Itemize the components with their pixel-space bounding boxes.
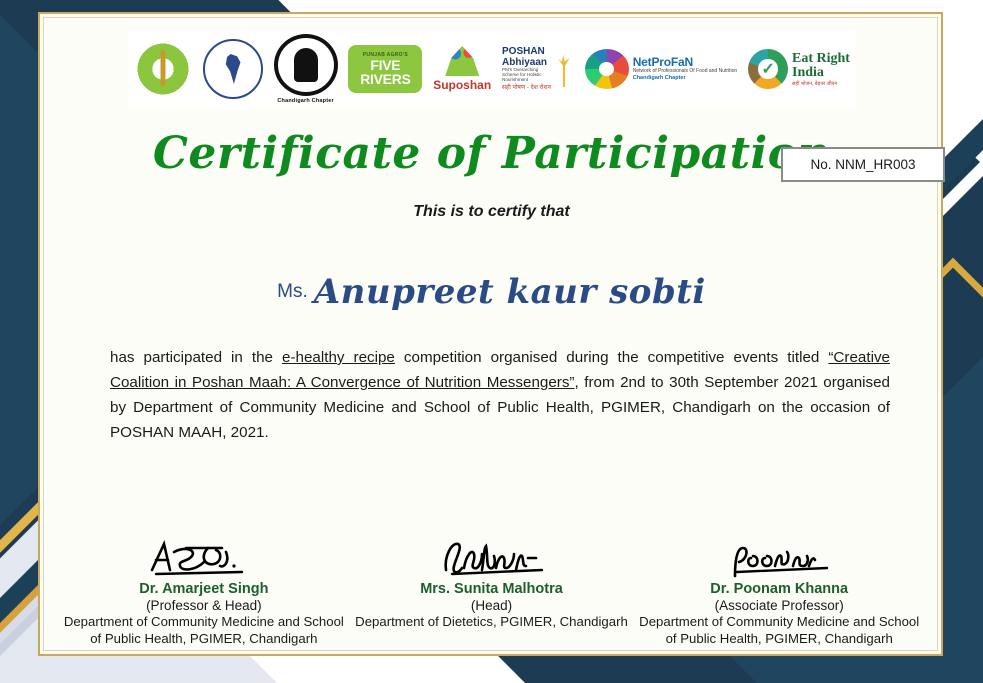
signature-role: (Professor & Head) bbox=[60, 598, 348, 613]
netprofan-logo: NetProFaN Network of Professionals Of Fo… bbox=[585, 34, 738, 104]
eat-right-line2-label: India bbox=[792, 66, 850, 80]
certificate-content: Chandigarh Chapter PUNJAB AGRO'S FIVE RI… bbox=[0, 0, 983, 683]
poshan-abhiyaan-logo: POSHAN Abhiyaan PM's Overarching Scheme … bbox=[502, 34, 574, 104]
certificate-document: Chandigarh Chapter PUNJAB AGRO'S FIVE RI… bbox=[0, 0, 983, 683]
netprofan-line2-label: Network of Professionals Of Food and Nut… bbox=[633, 69, 738, 74]
recipient-block: Ms.Anupreet kaur sobti bbox=[0, 272, 983, 312]
sunita-malhotra-signature bbox=[348, 536, 636, 580]
poshan-hindi-label: सही पोषण - देश रोशन bbox=[502, 85, 551, 91]
netprofan-line3-label: Chandigarh Chapter bbox=[633, 76, 738, 82]
partner-logo-bar: Chandigarh Chapter PUNJAB AGRO'S FIVE RI… bbox=[128, 30, 856, 108]
netprofan-mark: NetProFaN Network of Professionals Of Fo… bbox=[585, 49, 738, 89]
signature-block-sunita-malhotra: Mrs. Sunita Malhotra (Head) Department o… bbox=[348, 536, 636, 647]
suposhan-logo: Suposhan bbox=[433, 34, 491, 104]
suposhan-mark: Suposhan bbox=[433, 46, 491, 92]
pgimer-emblem-logo bbox=[134, 34, 192, 104]
netprofan-people-wheel-icon bbox=[585, 49, 629, 89]
signature-role: (Head) bbox=[348, 598, 636, 613]
netprofan-text-group: NetProFaN Network of Professionals Of Fo… bbox=[633, 56, 738, 82]
certificate-number-box: No. NNM_HR003 bbox=[781, 147, 945, 182]
competition-name: e-healthy recipe bbox=[282, 349, 395, 366]
five-rivers-punjab-agro-logo: PUNJAB AGRO'S FIVE RIVERS bbox=[348, 34, 422, 104]
signature-name: Mrs. Sunita Malhotra bbox=[348, 581, 636, 597]
nutrition-society-caption: Chandigarh Chapter bbox=[277, 98, 333, 104]
poshan-abhiyaan-mark: POSHAN Abhiyaan PM's Overarching Scheme … bbox=[502, 47, 574, 91]
signature-role: (Associate Professor) bbox=[635, 598, 923, 613]
eat-right-plate-icon bbox=[748, 49, 788, 89]
nutrition-society-of-india-logo: Chandigarh Chapter bbox=[274, 34, 338, 104]
eat-right-mark: Eat Right India सही भोजन, बेहतर जीवन bbox=[748, 49, 850, 89]
signature-name: Dr. Poonam Khanna bbox=[635, 581, 923, 597]
signature-org: Department of Community Medicine and Sch… bbox=[60, 614, 348, 647]
five-rivers-line2-label: RIVERS bbox=[360, 72, 410, 86]
netprofan-line1-label: NetProFaN bbox=[633, 56, 738, 69]
signature-name: Dr. Amarjeet Singh bbox=[60, 581, 348, 597]
eat-right-text-group: Eat Right India सही भोजन, बेहतर जीवन bbox=[792, 52, 850, 87]
suposhan-figures-icon bbox=[445, 46, 479, 76]
india-map-icon bbox=[222, 54, 244, 84]
amarjeet-singh-signature bbox=[60, 536, 348, 580]
nutrition-society-inner-icon bbox=[294, 48, 318, 82]
indian-dietetic-association-logo bbox=[203, 34, 263, 104]
signature-block-amarjeet-singh: Dr. Amarjeet Singh (Professor & Head) De… bbox=[60, 536, 348, 647]
poshan-tagline-label: PM's Overarching Scheme for Holistic Nou… bbox=[502, 68, 550, 82]
poshan-sprout-icon bbox=[554, 51, 574, 87]
body-part2: competition organised during the competi… bbox=[395, 349, 828, 366]
certify-line: This is to certify that bbox=[0, 203, 983, 221]
recipient-name: Anupreet kaur sobti bbox=[314, 272, 706, 312]
suposhan-label: Suposhan bbox=[433, 78, 491, 92]
signature-org: Department of Community Medicine and Sch… bbox=[635, 614, 923, 647]
recipient-honorific: Ms. bbox=[277, 281, 308, 302]
certificate-body-text: has participated in the e-healthy recipe… bbox=[110, 345, 890, 445]
signature-org: Department of Dietetics, PGIMER, Chandig… bbox=[348, 614, 636, 631]
five-rivers-line1-label: FIVE bbox=[370, 58, 400, 72]
nutrition-society-circle-icon bbox=[274, 34, 338, 96]
pgimer-emblem-icon bbox=[134, 40, 192, 98]
body-part1: has participated in the bbox=[110, 349, 282, 366]
eat-right-line1-label: Eat Right bbox=[792, 52, 850, 66]
poshan-text-group: POSHAN Abhiyaan PM's Overarching Scheme … bbox=[502, 47, 551, 91]
signature-row: Dr. Amarjeet Singh (Professor & Head) De… bbox=[60, 536, 923, 647]
ida-circle-icon bbox=[203, 39, 263, 99]
five-rivers-badge-icon: PUNJAB AGRO'S FIVE RIVERS bbox=[348, 45, 422, 93]
poonam-khanna-signature bbox=[635, 536, 923, 580]
signature-block-poonam-khanna: Dr. Poonam Khanna (Associate Professor) … bbox=[635, 536, 923, 647]
eat-right-hindi-label: सही भोजन, बेहतर जीवन bbox=[792, 82, 850, 87]
eat-right-india-logo: Eat Right India सही भोजन, बेहतर जीवन bbox=[748, 34, 850, 104]
